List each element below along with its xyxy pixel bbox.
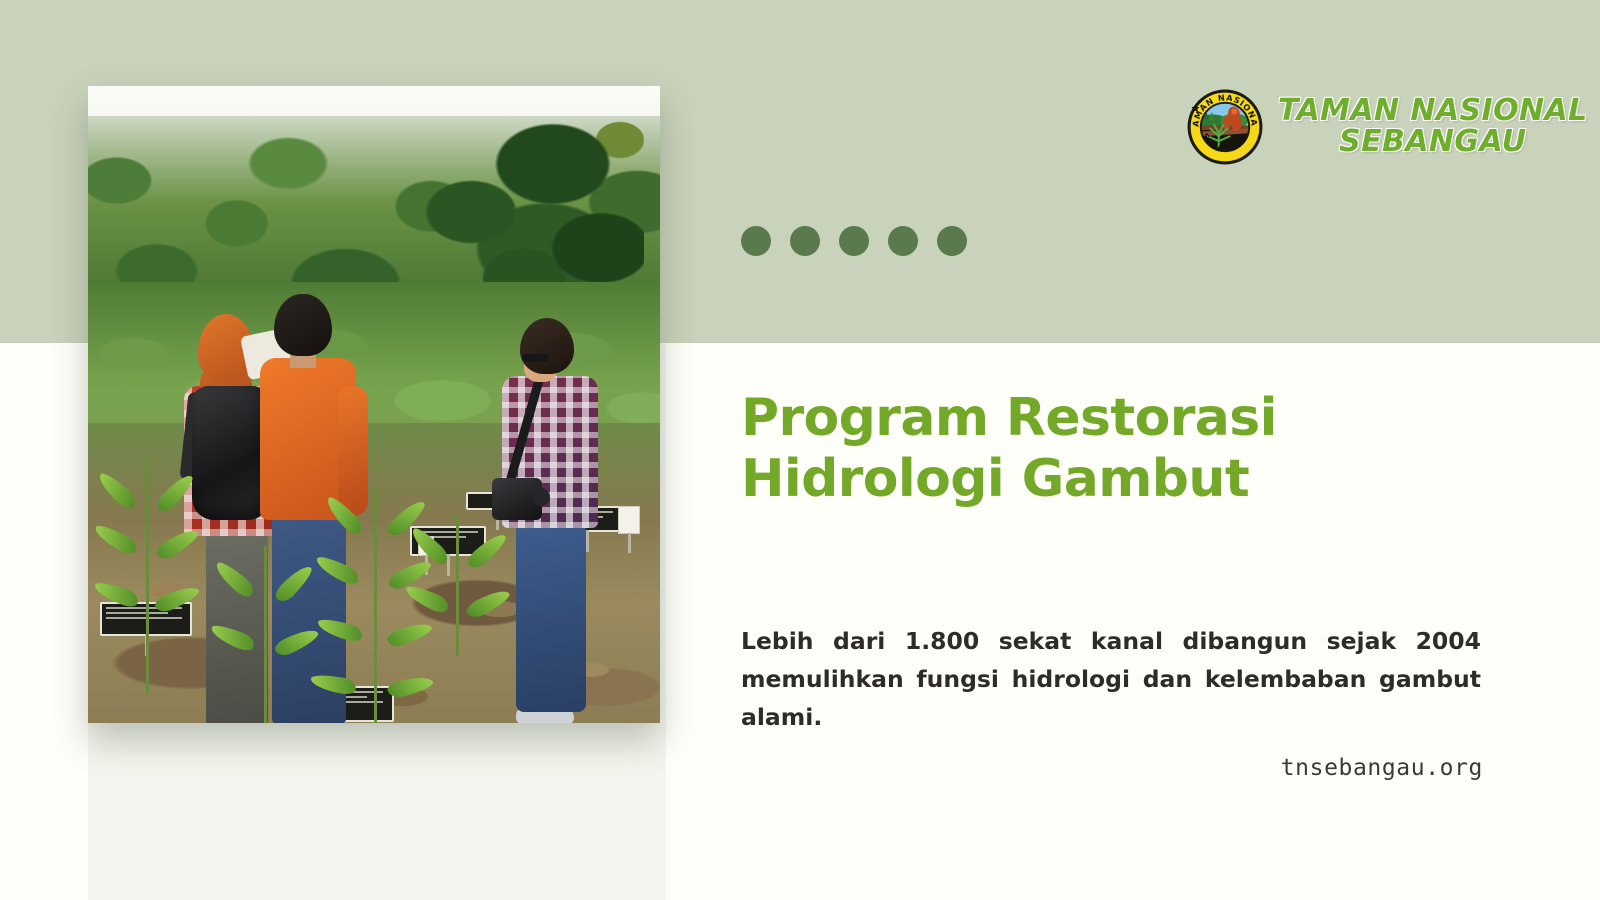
photo-backpack [192,386,270,520]
photo-sapling-stem [146,458,149,694]
photo-sapling-stem [456,516,459,656]
decorative-dots [741,226,967,256]
photo-person-arm [338,386,368,516]
website-url[interactable]: tnsebangau.org [741,755,1483,781]
poster-slide: TAMAN NASIONAL SEBANGAU TAMAN NASIONAL S… [0,0,1600,900]
photo-person-legs [206,526,268,723]
photo-scene [88,86,660,723]
description-text: Lebih dari 1.800 sekat kanal dibangun se… [741,622,1481,736]
taman-nasional-sebangau-emblem: TAMAN NASIONAL SEBANGAU [1186,88,1264,166]
dot-5 [937,226,967,256]
wordmark-line-2: SEBANGAU [1339,127,1526,158]
photo-sunglasses [522,354,548,362]
hero-photo [88,86,660,723]
sign-text-line [106,612,168,614]
photo-sapling-stem [374,486,377,723]
photo-person-head [520,318,574,374]
photo-sapling-stem [264,546,267,723]
photo-person-head [274,294,332,356]
page-title: Program Restorasi Hidrologi Gambut [741,388,1483,510]
dot-2 [790,226,820,256]
headline-line-1: Program Restorasi [741,388,1277,448]
text-column: Program Restorasi Hidrologi Gambut Lebih… [741,388,1483,736]
photo-person-jeans [516,522,586,712]
dot-1 [741,226,771,256]
photo-camera [492,478,542,520]
wordmark-line-1: TAMAN NASIONAL [1278,96,1588,127]
headline-line-2: Hidrologi Gambut [741,449,1249,509]
left-margin-background [0,343,88,900]
photo-blank-marker-sign [618,506,640,534]
dot-4 [888,226,918,256]
sign-text-line [106,617,182,619]
brand-wordmark: TAMAN NASIONAL SEBANGAU [1278,96,1588,157]
dot-3 [839,226,869,256]
brand-lockup: TAMAN NASIONAL SEBANGAU TAMAN NASIONAL S… [1186,88,1588,166]
